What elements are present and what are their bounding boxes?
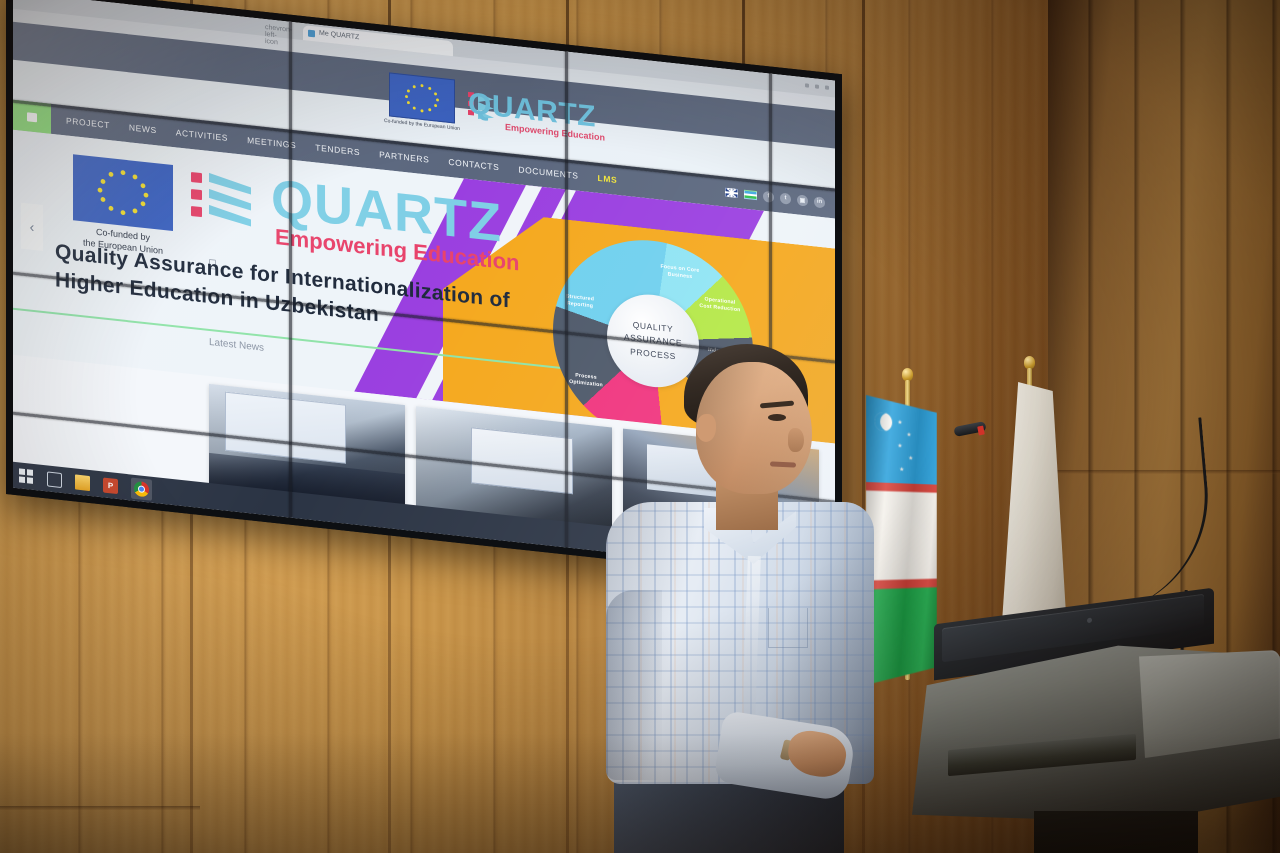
podium-monitor-camera-icon	[1087, 617, 1092, 623]
minimize-icon[interactable]	[805, 83, 809, 87]
presenter-eye	[768, 414, 786, 421]
nav-item-tenders[interactable]: TENDERS	[315, 142, 360, 157]
nav-item-activities[interactable]: ACTIVITIES	[176, 127, 228, 143]
nav-item-news[interactable]: NEWS	[129, 122, 157, 135]
close-icon[interactable]	[825, 85, 829, 89]
presenter-arm-shadow	[606, 590, 662, 780]
task-view-icon[interactable]	[47, 471, 62, 488]
nav-item-contacts[interactable]: CONTACTS	[448, 157, 499, 172]
chrome-icon	[134, 480, 149, 497]
nav-item-partners[interactable]: PARTNERS	[379, 149, 429, 164]
powerpoint-icon[interactable]: P	[103, 477, 118, 494]
twitter-icon[interactable]: t	[780, 192, 791, 204]
podium-side-panel	[1130, 650, 1280, 758]
latest-news-heading: Latest News	[209, 337, 264, 354]
instagram-icon[interactable]: ▣	[797, 194, 808, 206]
nav-item-lms[interactable]: LMS	[598, 173, 618, 185]
tab-favicon-icon	[308, 30, 315, 38]
podium-base	[1034, 811, 1198, 853]
browser-tab-title: Me QUARTZ	[319, 30, 359, 41]
speaker-podium	[912, 606, 1280, 853]
linkedin-icon[interactable]: in	[814, 196, 825, 208]
uk-flag-icon[interactable]	[725, 187, 738, 197]
home-icon	[27, 112, 37, 122]
wall-seam	[0, 806, 200, 810]
maximize-icon[interactable]	[815, 84, 819, 88]
presenter-shirt-pocket	[768, 608, 808, 648]
carousel-prev-icon[interactable]: ‹	[21, 203, 43, 251]
presentation-room-scene: Me QUARTZ chevron-left-icon	[0, 0, 1280, 853]
presenter-nose	[788, 428, 804, 452]
windows-start-icon[interactable]	[19, 468, 34, 485]
browser-tab[interactable]: Me QUARTZ	[303, 25, 453, 56]
presenter	[592, 340, 892, 853]
presenter-ear	[696, 414, 716, 442]
quartz-chevron-logo-icon	[191, 167, 267, 237]
nav-item-project[interactable]: PROJECT	[66, 115, 110, 130]
back-icon[interactable]: chevron-left-icon	[265, 24, 272, 32]
chrome-taskbar-button[interactable]	[131, 477, 152, 500]
folder-icon[interactable]	[75, 474, 90, 491]
uzbekistan-flag-icon[interactable]	[744, 189, 757, 199]
european-union-flag-icon	[389, 72, 455, 123]
european-union-flag-icon	[73, 154, 173, 231]
nav-item-documents[interactable]: DOCUMENTS	[518, 164, 578, 181]
